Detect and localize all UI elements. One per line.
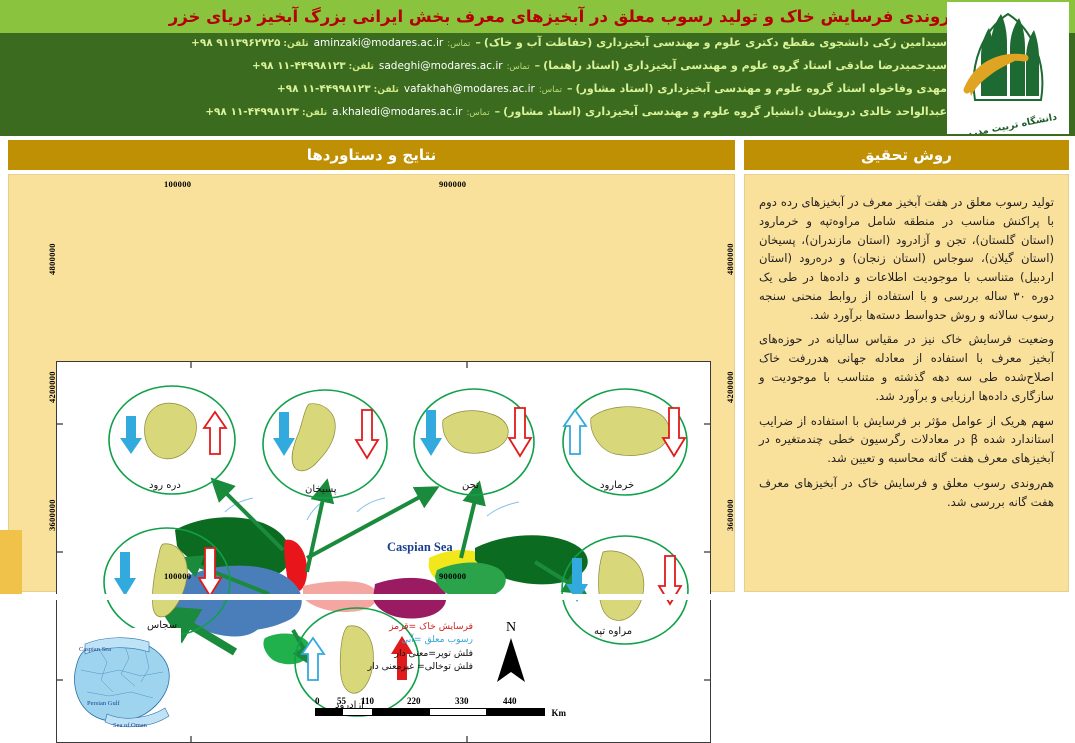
map-legend: فرسایش خاک =قرمز رسوب معلق =آبی فلش توپر… bbox=[325, 620, 473, 673]
contact-label: تماس: bbox=[464, 109, 491, 118]
author-row: مهدی وفاخواه استاد گروه علوم و مهندسی آب… bbox=[14, 83, 947, 106]
bottom-white-strip bbox=[0, 594, 1075, 600]
callout-pasikhan bbox=[263, 390, 387, 498]
method-paragraph-1: تولید رسوب معلق در هفت آبخیز معرف در آبخ… bbox=[759, 193, 1054, 324]
north-label: N bbox=[491, 620, 531, 636]
map-graphic bbox=[57, 362, 710, 742]
scale-tick-110: 110 bbox=[361, 696, 374, 706]
section-header-method-label: روش تحقیق bbox=[861, 146, 952, 164]
caspian-sea-label: Caspian Sea bbox=[387, 540, 453, 555]
callout-darrehrud bbox=[109, 386, 235, 494]
y-axis-label-right-3600000: 3600000 bbox=[725, 499, 735, 531]
callout-label-khormarud: خرمارود bbox=[600, 480, 634, 491]
map-scale: 0 55 110 220 330 440 Km bbox=[315, 696, 545, 716]
author-phone: +۹۸ ۹۱۱۳۹۶۲۷۲۵ bbox=[191, 38, 280, 49]
author-email[interactable]: vafakhah@modares.ac.ir bbox=[402, 84, 537, 95]
author-separator: – bbox=[472, 37, 484, 48]
y-axis-label-right-4800000: 4800000 bbox=[725, 243, 735, 275]
x-axis-label-bottom-left: 100000 bbox=[164, 571, 191, 581]
authors-band: سیدامین زکی دانشجوی مقطع دکتری علوم و مه… bbox=[0, 33, 1075, 136]
x-axis-label-top-left: 100000 bbox=[164, 179, 191, 189]
author-name: سیدحمیدرضا صادقی استاد گروه علوم و مهندس… bbox=[543, 60, 947, 71]
callout-label-sojas: سجاس bbox=[147, 620, 177, 631]
y-axis-label-left-3600000: 3600000 bbox=[47, 499, 57, 531]
section-header-results-label: نتایج و دستاوردها bbox=[307, 146, 437, 164]
contact-label: تماس: bbox=[537, 86, 564, 95]
sediment-arrow-down-solid-blue bbox=[120, 416, 142, 454]
sediment-arrow-down-solid-blue bbox=[420, 410, 442, 456]
author-separator: – bbox=[532, 60, 544, 71]
author-phone: +۹۸ ۱۱-۴۴۹۹۸۱۲۳ bbox=[252, 61, 346, 72]
legend-solid-arrow: فلش توپر=معنی دار bbox=[325, 647, 473, 660]
legend-hollow-arrow: فلش توخالی= غیرمعنی دار bbox=[325, 660, 473, 673]
inset-label-caspian: Caspian Sea bbox=[79, 646, 111, 653]
author-email[interactable]: sadeghi@modares.ac.ir bbox=[377, 61, 505, 72]
author-name: سیدامین زکی دانشجوی مقطع دکتری علوم و مه… bbox=[484, 37, 947, 48]
tel-label: تلفن: bbox=[346, 63, 377, 72]
method-panel: تولید رسوب معلق در هفت آبخیز معرف در آبخ… bbox=[744, 174, 1069, 592]
results-panel: دره رود پسیخان تجن خرمارود سجاس مراوه تپ… bbox=[8, 174, 735, 592]
author-row: عبدالواحد خالدی درویشان دانشیار گروه علو… bbox=[14, 106, 947, 129]
method-paragraph-2: وضعیت فرسایش خاک نیز در مقیاس سالیانه در… bbox=[759, 330, 1054, 405]
page-title: تحلیل هم‌روندی فرسایش خاک و تولید رسوب م… bbox=[49, 7, 1026, 26]
method-paragraph-4: هم‌روندی رسوب معلق و فرسایش خاک در آبخیز… bbox=[759, 474, 1054, 512]
author-row: سیدامین زکی دانشجوی مقطع دکتری علوم و مه… bbox=[14, 37, 947, 60]
callout-label-pasikhan: پسیخان bbox=[305, 484, 337, 495]
method-paragraph-3: سهم هریک از عوامل مؤثر بر فرسایش با استف… bbox=[759, 412, 1054, 468]
poster-title-band: تحلیل هم‌روندی فرسایش خاک و تولید رسوب م… bbox=[0, 0, 1075, 33]
scale-tick-440: 440 bbox=[503, 696, 517, 706]
author-name: مهدی وفاخواه استاد گروه علوم و مهندسی آب… bbox=[575, 83, 947, 94]
north-arrow: N bbox=[491, 620, 531, 688]
author-separator: – bbox=[492, 106, 504, 117]
erosion-arrow-up-hollow-red bbox=[204, 412, 226, 454]
poster-root: تحلیل هم‌روندی فرسایش خاک و تولید رسوب م… bbox=[0, 0, 1075, 600]
contact-label: تماس: bbox=[505, 63, 532, 72]
scale-tick-330: 330 bbox=[455, 696, 469, 706]
sediment-arrow-up-hollow-blue bbox=[564, 410, 586, 454]
tel-label: تلفن: bbox=[371, 86, 402, 95]
x-axis-label-top-right: 900000 bbox=[439, 179, 466, 189]
callout-label-maravehtappeh: مراوه تپه bbox=[594, 626, 632, 637]
legend-erosion: فرسایش خاک =قرمز bbox=[325, 620, 473, 633]
scale-bar-graphic: Km bbox=[315, 708, 545, 716]
section-header-method: روش تحقیق bbox=[744, 140, 1069, 170]
map-canvas: دره رود پسیخان تجن خرمارود سجاس مراوه تپ… bbox=[57, 362, 710, 742]
method-text: تولید رسوب معلق در هفت آبخیز معرف در آبخ… bbox=[745, 175, 1068, 528]
y-axis-label-left-4200000: 4200000 bbox=[47, 371, 57, 403]
inset-label-persian-gulf: Persian Gulf bbox=[87, 700, 120, 707]
inset-label-sea-of-oman: Sea of Oman bbox=[113, 722, 147, 729]
erosion-arrow-down-hollow-red bbox=[509, 408, 531, 456]
author-phone: +۹۸ ۱۱-۴۴۹۹۸۱۲۳ bbox=[277, 84, 371, 95]
tarbiat-modares-logo-icon bbox=[955, 4, 1061, 116]
x-axis-label-bottom-right: 900000 bbox=[439, 571, 466, 581]
author-separator: – bbox=[564, 83, 576, 94]
callout-label-darrehrud: دره رود bbox=[149, 480, 181, 491]
author-name: عبدالواحد خالدی درویشان دانشیار گروه علو… bbox=[503, 106, 947, 117]
callout-label-tajan: تجن bbox=[462, 480, 479, 491]
scale-unit-label: Km bbox=[552, 708, 567, 718]
y-axis-label-right-4200000: 4200000 bbox=[725, 371, 735, 403]
scale-tick-55: 55 bbox=[337, 696, 346, 706]
tel-label: تلفن: bbox=[280, 40, 311, 49]
scale-tick-0: 0 bbox=[315, 696, 320, 706]
y-axis-label-left-4800000: 4800000 bbox=[47, 243, 57, 275]
bottom-left-accent-strip bbox=[0, 530, 22, 600]
author-phone: +۹۸ ۱۱-۴۴۹۹۸۱۲۳ bbox=[205, 107, 299, 118]
map-figure: دره رود پسیخان تجن خرمارود سجاس مراوه تپ… bbox=[56, 361, 711, 743]
tel-label: تلفن: bbox=[299, 109, 330, 118]
erosion-arrow-down-hollow-red bbox=[356, 410, 378, 458]
author-row: سیدحمیدرضا صادقی استاد گروه علوم و مهندس… bbox=[14, 60, 947, 83]
legend-sediment: رسوب معلق =آبی bbox=[325, 633, 473, 646]
sediment-arrow-down-solid-blue bbox=[114, 552, 136, 596]
contact-label: تماس: bbox=[445, 40, 472, 49]
north-arrow-icon bbox=[494, 636, 528, 684]
section-header-results: نتایج و دستاوردها bbox=[8, 140, 735, 170]
author-email[interactable]: aminzaki@modares.ac.ir bbox=[312, 38, 446, 49]
scale-tick-labels: 0 55 110 220 330 440 bbox=[315, 696, 545, 708]
sediment-arrow-down-solid-blue bbox=[273, 412, 295, 456]
university-logo: دانشگاه تربیت مدرس bbox=[947, 2, 1069, 134]
scale-tick-220: 220 bbox=[407, 696, 421, 706]
author-email[interactable]: a.khaledi@modares.ac.ir bbox=[330, 107, 464, 118]
